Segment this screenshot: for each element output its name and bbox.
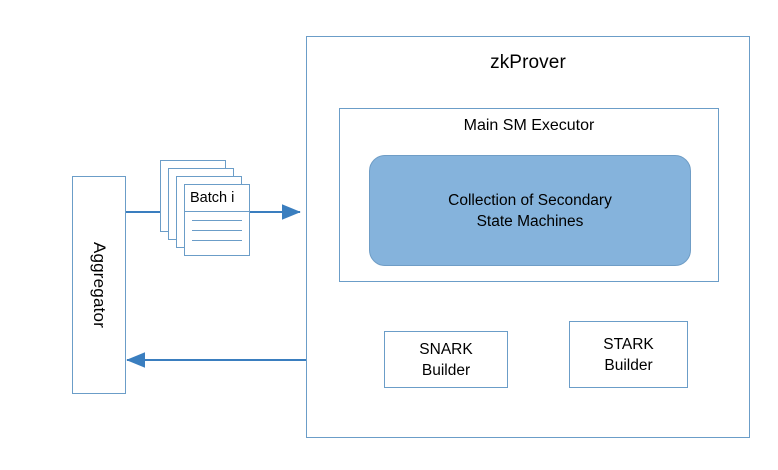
batch-content-lines [185, 212, 249, 255]
batch-content-line [192, 240, 242, 241]
batch-sheet-front: Batch i [184, 184, 250, 256]
zkprover-title: zkProver [306, 51, 750, 75]
stark-builder-label: STARK Builder [570, 322, 687, 387]
stark-builder-box: STARK Builder [569, 321, 688, 388]
secondary-state-machines-label: Collection of Secondary State Machines [448, 190, 612, 232]
secondary-state-machines-box: Collection of Secondary State Machines [369, 155, 691, 266]
batch-document-stack: Batch i [160, 160, 252, 258]
batch-label: Batch i [185, 185, 249, 212]
main-sm-executor-title: Main SM Executor [339, 115, 719, 137]
batch-content-line [192, 220, 242, 221]
snark-builder-box: SNARK Builder [384, 331, 508, 388]
aggregator-box [72, 176, 126, 394]
diagram-canvas: zkProver Main SM Executor Collection of … [0, 0, 778, 470]
snark-builder-label: SNARK Builder [385, 332, 507, 387]
batch-content-line [192, 230, 242, 231]
